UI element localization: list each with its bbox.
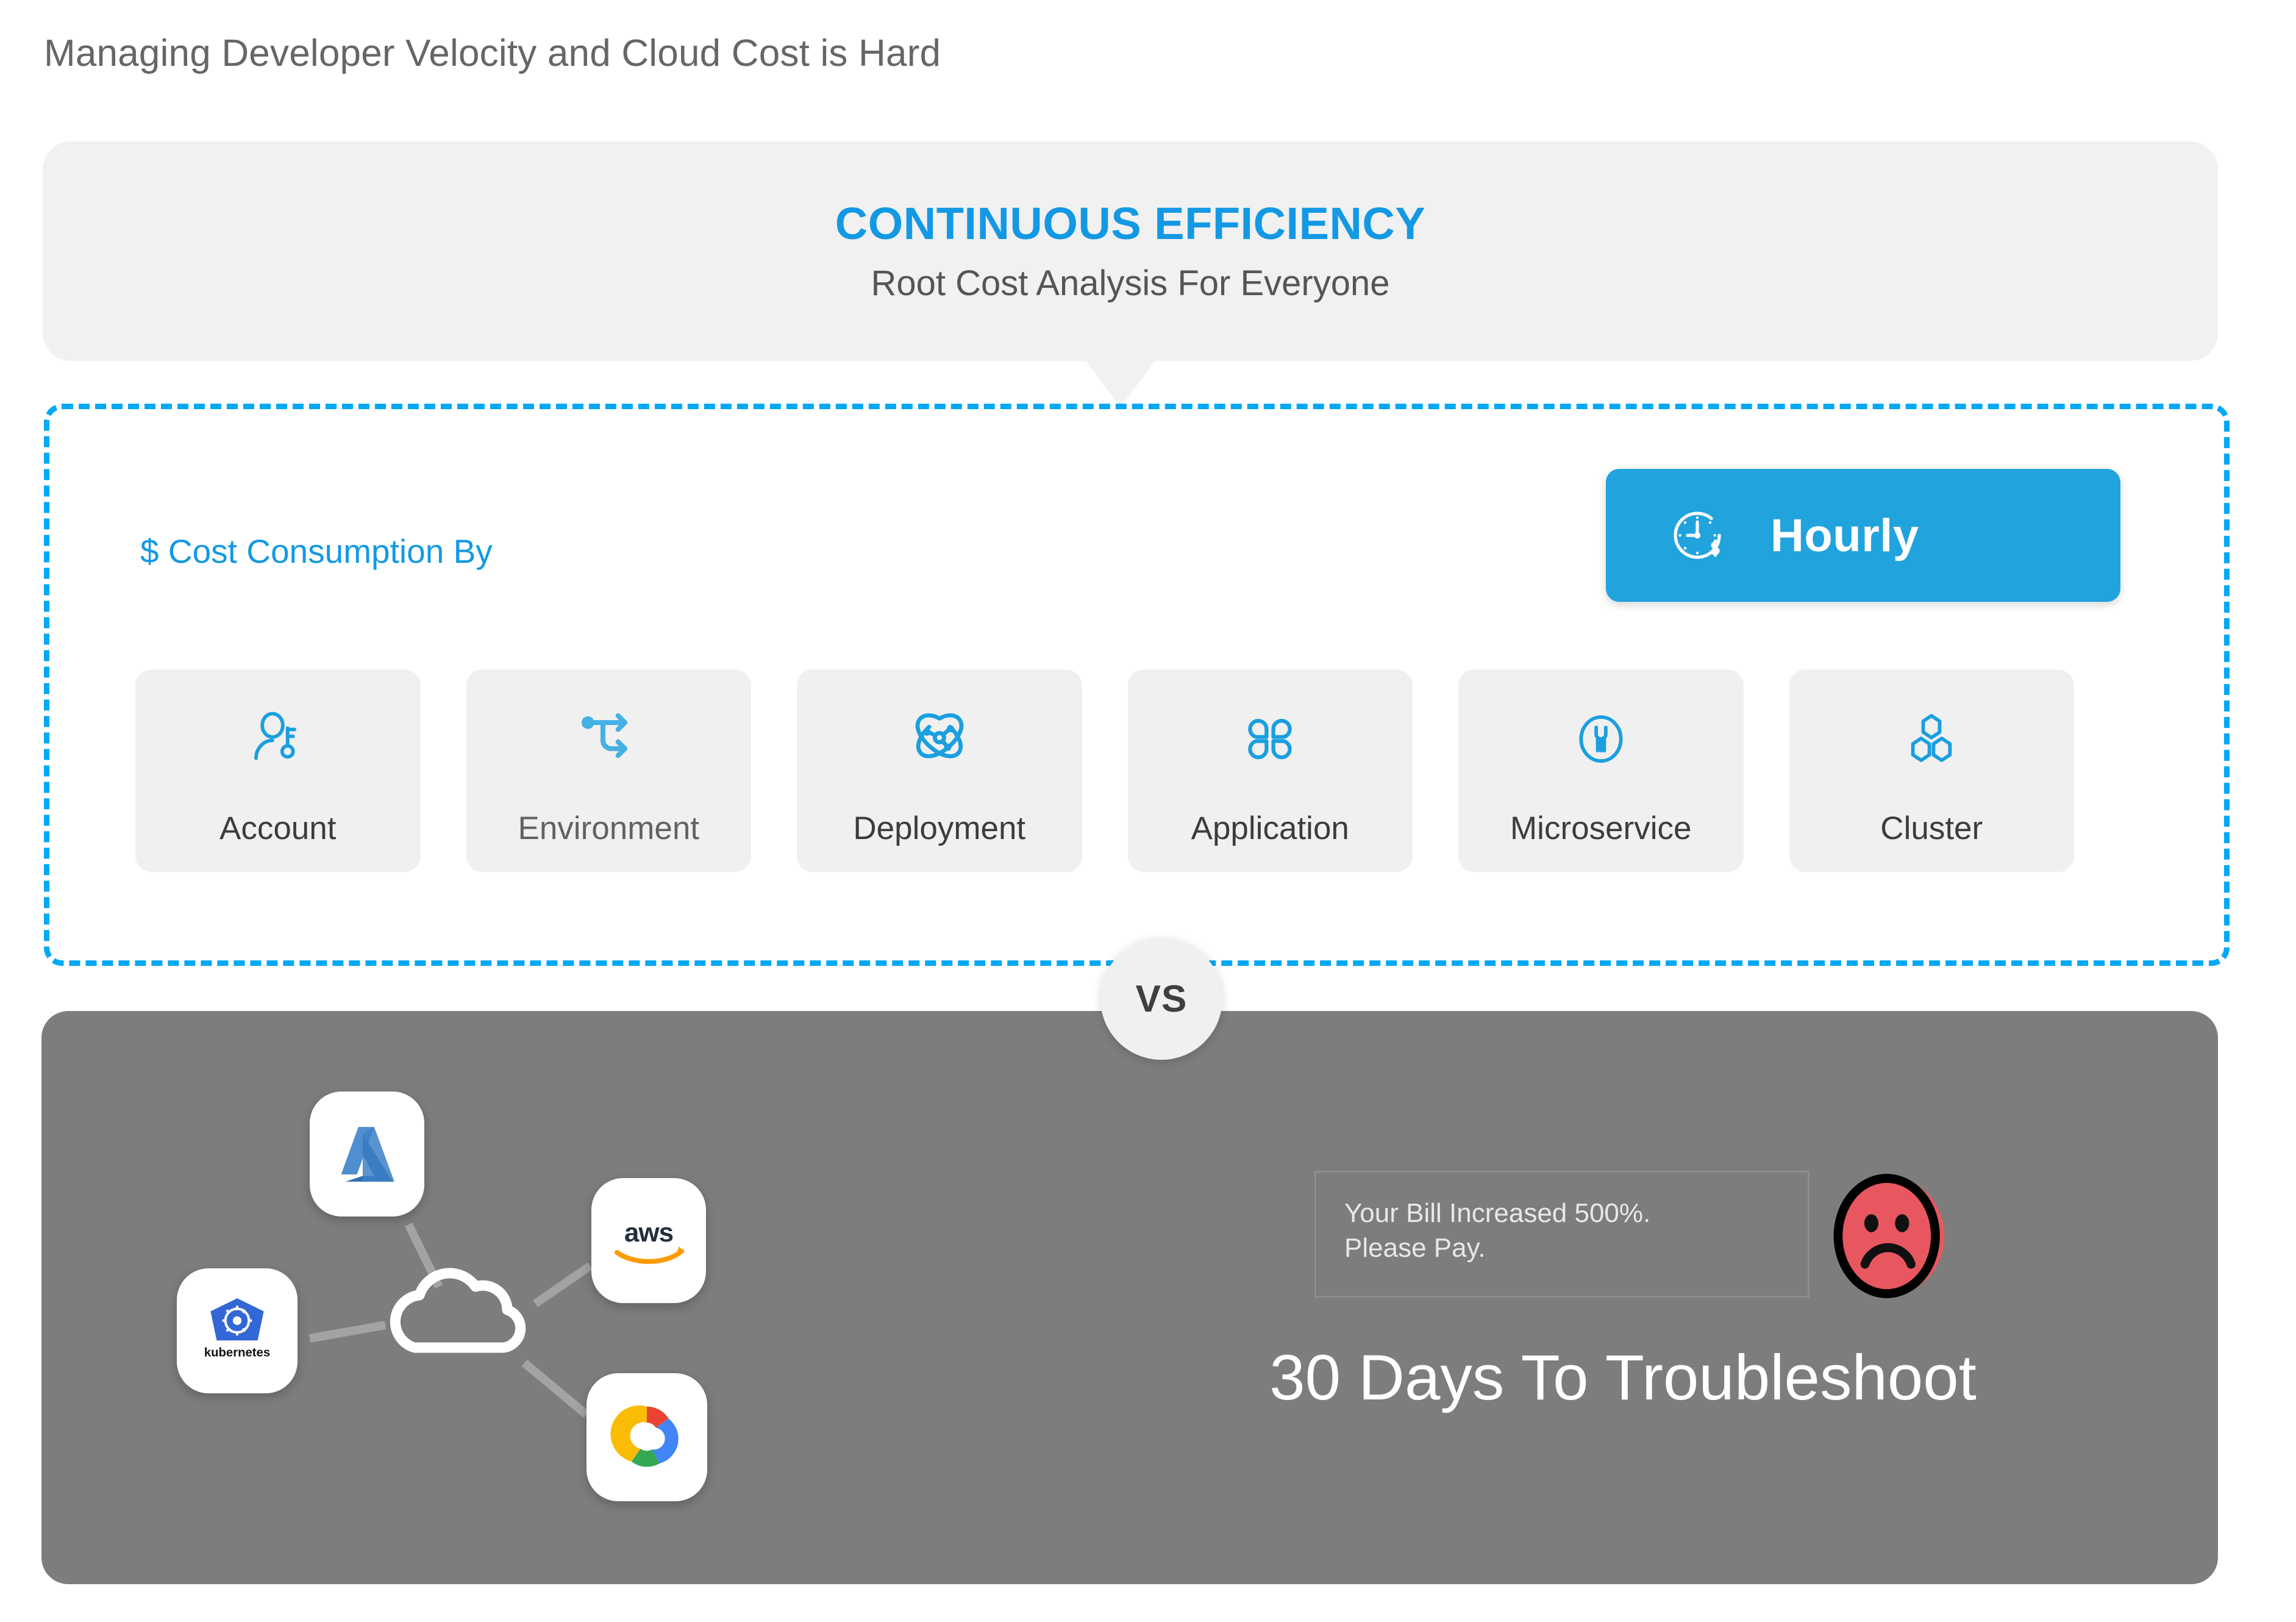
page-title: Managing Developer Velocity and Cloud Co…	[44, 32, 941, 75]
google-cloud-logo	[608, 1399, 685, 1476]
category-card-account[interactable]: Account	[135, 670, 421, 872]
azure-logo-tile	[310, 1091, 424, 1216]
branch-arrows-icon	[576, 706, 641, 772]
callout-tail-triangle	[1085, 360, 1156, 407]
category-label: Cluster	[1880, 810, 1983, 847]
category-card-cluster[interactable]: Cluster	[1789, 670, 2075, 872]
bill-notice-box: Your Bill Increased 500%. Please Pay.	[1314, 1171, 1809, 1298]
cloud-icon	[395, 1273, 520, 1348]
sad-face-icon	[1827, 1171, 1955, 1301]
svg-text:aws: aws	[624, 1218, 673, 1248]
azure-logo	[331, 1118, 403, 1190]
hexagons-icon	[1898, 706, 1964, 772]
google-cloud-logo-tile	[586, 1373, 707, 1501]
svg-text:kubernetes: kubernetes	[204, 1346, 270, 1359]
four-petals-icon	[1237, 706, 1303, 772]
person-key-icon	[245, 706, 311, 772]
hourly-button-label: Hourly	[1770, 509, 1919, 562]
header-subtitle: Root Cost Analysis For Everyone	[871, 263, 1389, 304]
cloud-diagram: aws kubernet	[152, 1085, 768, 1531]
category-cards-row: Account Environment	[135, 670, 2074, 872]
category-label: Environment	[518, 810, 699, 847]
kubernetes-logo-tile: kubernetes	[177, 1268, 298, 1393]
troubleshoot-headline: 30 Days To Troubleshoot	[1111, 1342, 2135, 1415]
bill-notice-line-2: Please Pay.	[1344, 1231, 1781, 1265]
category-card-deployment[interactable]: Deployment	[797, 670, 1082, 872]
header-title: CONTINUOUS EFFICIENCY	[835, 199, 1425, 249]
cost-consumption-label: $ Cost Consumption By	[140, 532, 493, 571]
category-label: Application	[1191, 810, 1349, 847]
category-card-environment[interactable]: Environment	[466, 670, 752, 872]
header-callout-card: CONTINUOUS EFFICIENCY Root Cost Analysis…	[43, 141, 2218, 361]
kubernetes-logo: kubernetes	[197, 1290, 277, 1373]
bill-notice-line-1: Your Bill Increased 500%.	[1344, 1196, 1781, 1231]
aws-logo: aws	[606, 1212, 691, 1270]
aws-logo-tile: aws	[591, 1178, 706, 1303]
category-card-microservice[interactable]: Microservice	[1458, 670, 1744, 872]
clock-dollar-icon	[1658, 496, 1736, 574]
category-label: Microservice	[1510, 810, 1691, 847]
wrench-circle-icon	[1568, 706, 1634, 772]
category-label: Deployment	[853, 810, 1025, 847]
atom-icon	[907, 706, 972, 772]
category-label: Account	[219, 810, 337, 847]
vs-badge: VS	[1100, 938, 1222, 1060]
category-card-application[interactable]: Application	[1128, 670, 1413, 872]
hourly-button[interactable]: Hourly	[1606, 469, 2120, 602]
slide-canvas: Managing Developer Velocity and Cloud Co…	[0, 0, 2296, 1622]
